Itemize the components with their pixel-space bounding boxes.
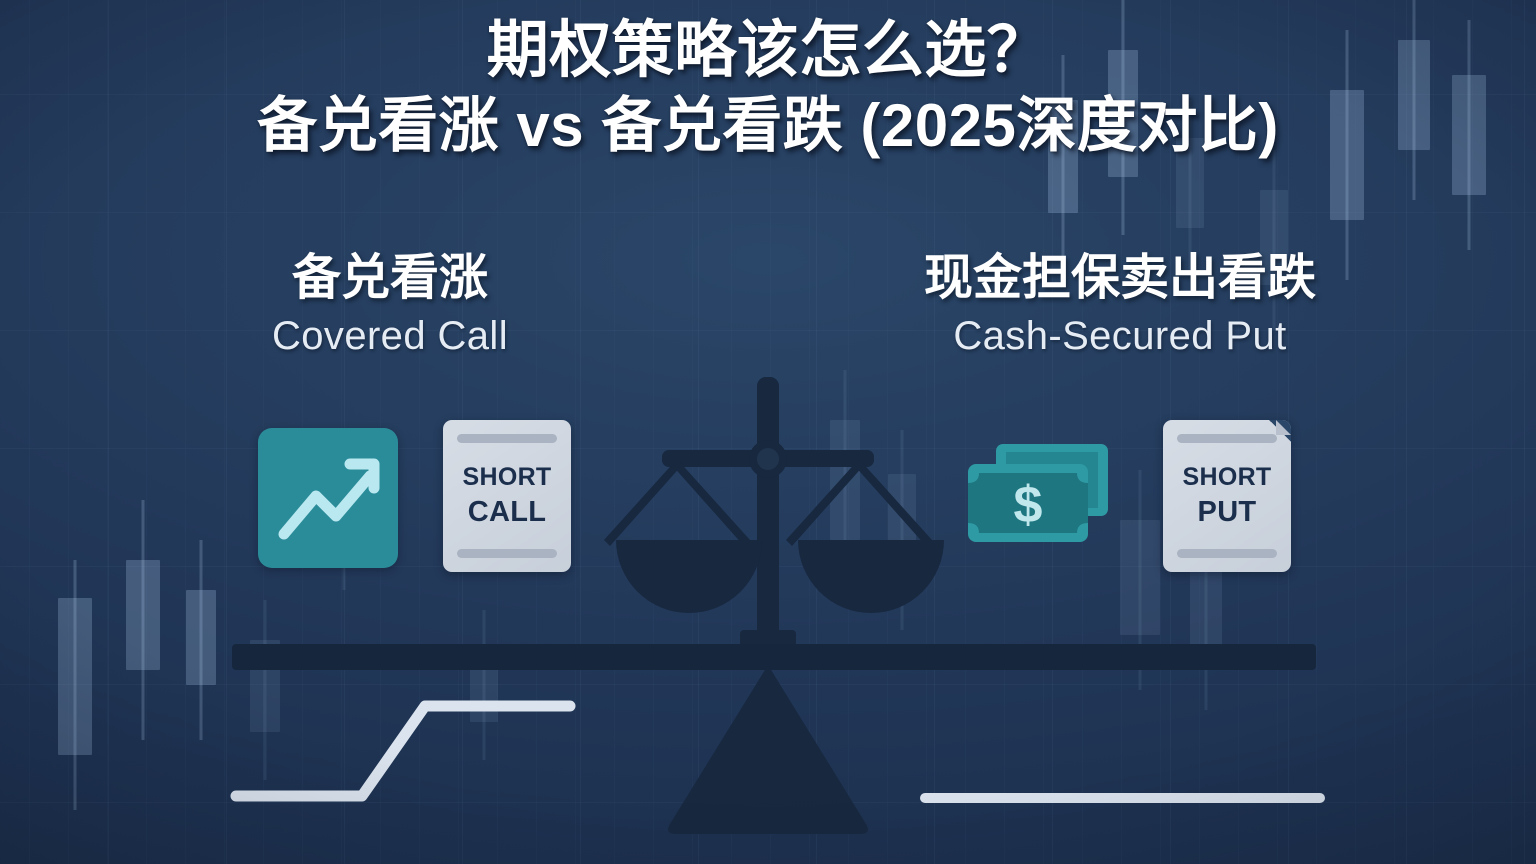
document-top-bar (1177, 434, 1277, 443)
title-block: 期权策略该怎么选？ 备兑看涨 vs 备兑看跌 (2025深度对比) (0, 14, 1536, 162)
cash-secured-put-label-cn: 现金担保卖出看跌 (880, 252, 1360, 306)
document-top-bar (457, 434, 557, 443)
document-bottom-bar (1177, 549, 1277, 558)
trending-up-icon (258, 428, 398, 568)
document-bottom-bar (457, 549, 557, 558)
cash-secured-put-label-en: Cash-Secured Put (880, 314, 1360, 359)
covered-call-payoff-line (236, 706, 570, 796)
covered-call-label-en: Covered Call (150, 314, 630, 359)
short-call-word-1: SHORT (463, 463, 552, 492)
svg-text:$: $ (1014, 476, 1043, 534)
short-call-document-card: SHORT CALL (443, 420, 571, 572)
page-fold-corner-icon (1269, 420, 1291, 442)
title-line-1: 期权策略该怎么选？ (0, 14, 1536, 87)
short-put-word-1: SHORT (1183, 463, 1272, 492)
short-put-document-card: SHORT PUT (1163, 420, 1291, 572)
covered-call-label-cn: 备兑看涨 (150, 252, 630, 306)
column-heading-right: 现金担保卖出看跌 Cash-Secured Put (880, 252, 1360, 359)
poster-canvas: 期权策略该怎么选？ 备兑看涨 vs 备兑看跌 (2025深度对比) 备兑看涨 C… (0, 0, 1536, 864)
column-heading-left: 备兑看涨 Covered Call (150, 252, 630, 359)
title-line-2: 备兑看涨 vs 备兑看跌 (2025深度对比) (0, 91, 1536, 162)
cash-stack-icon: $ (968, 442, 1118, 554)
short-put-word-2: PUT (1198, 496, 1257, 529)
short-call-word-2: CALL (468, 496, 547, 529)
